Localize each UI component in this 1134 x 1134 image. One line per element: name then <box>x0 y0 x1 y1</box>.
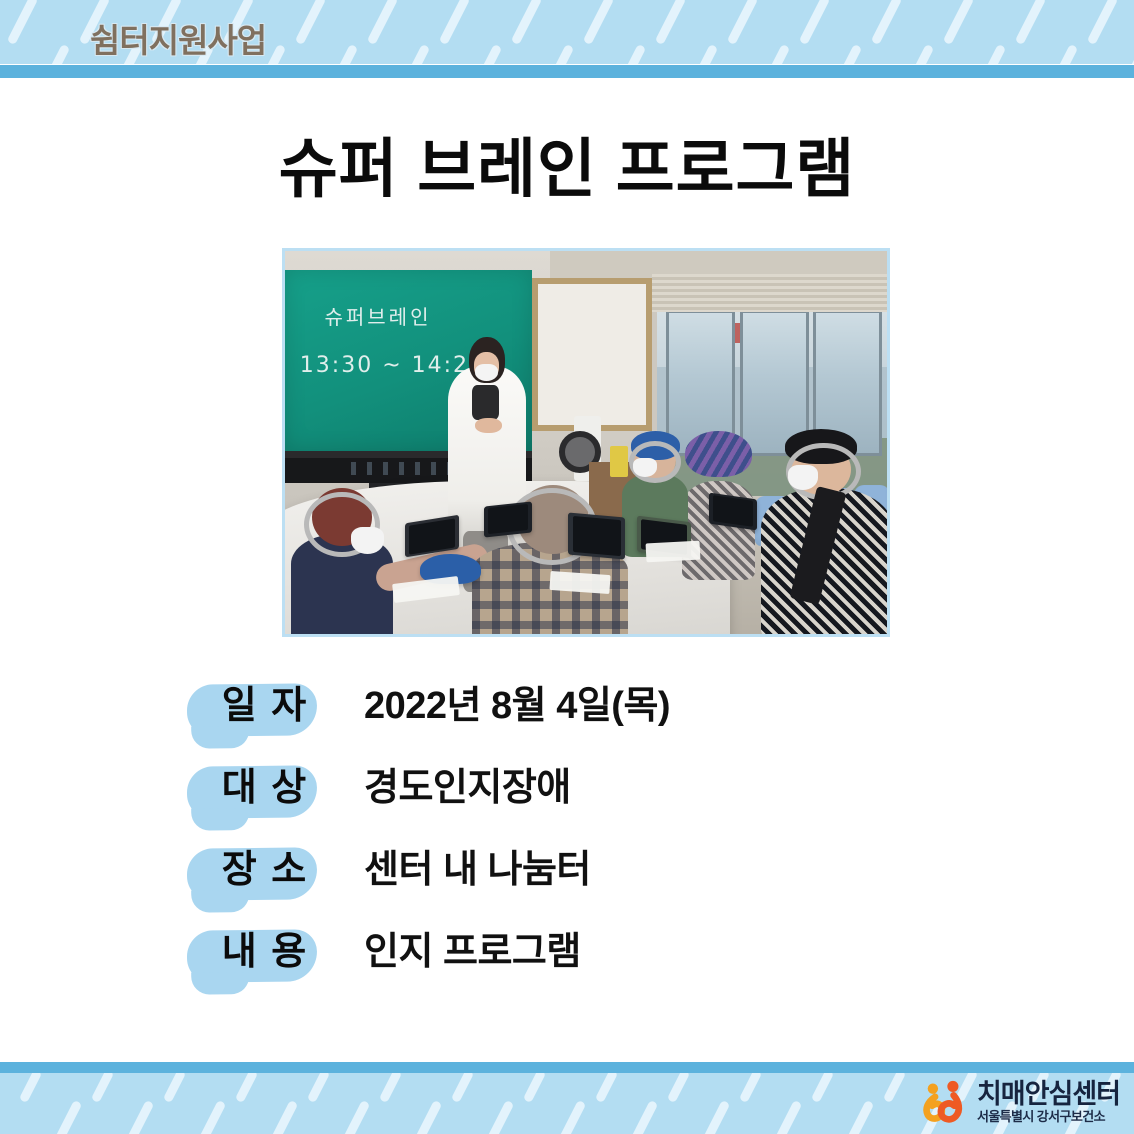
yellow-bottle <box>610 446 628 477</box>
paper-sheet <box>646 541 701 563</box>
info-row-content: 내 용 인지 프로그램 <box>0 906 1134 988</box>
info-label-target: 대 상 <box>190 748 340 818</box>
instructor-inner-top <box>472 385 499 419</box>
slide-canvas: 쉼터지원사업 슈퍼 브레인 프로그램 슈퍼브레인 13:30 ~ 14:20 <box>0 0 1134 1134</box>
info-label-place: 장 소 <box>190 830 340 900</box>
participant-mask <box>633 458 657 477</box>
classroom-photo: 슈퍼브레인 13:30 ~ 14:20 <box>285 251 887 634</box>
participant-bucket-hat <box>685 431 751 477</box>
instructor-mask <box>475 364 498 381</box>
info-row-date: 일 자 2022년 8월 4일(목) <box>0 660 1134 742</box>
tablet-screen <box>573 517 621 557</box>
tablet-device <box>568 513 625 560</box>
instructor-hands <box>475 418 502 433</box>
info-label-text: 대 상 <box>222 756 308 811</box>
info-value-date: 2022년 8월 4일(목) <box>364 674 670 729</box>
info-row-place: 장 소 센터 내 나눔터 <box>0 824 1134 906</box>
tablet-screen <box>410 518 456 554</box>
organization-logo: 치매안심센터 서울특별시 강서구보건소 <box>920 1073 1120 1131</box>
page-title: 슈퍼 브레인 프로그램 <box>0 118 1134 210</box>
participant-mask <box>351 527 384 554</box>
header-accent-bar <box>0 65 1134 78</box>
dementia-center-logo-icon <box>920 1079 968 1125</box>
info-label-text: 내 용 <box>222 920 308 975</box>
info-value-target: 경도인지장애 <box>364 756 571 811</box>
info-label-text: 장 소 <box>222 838 308 893</box>
paper-sheet <box>549 571 610 594</box>
tablet-device <box>484 501 532 537</box>
info-label-content: 내 용 <box>190 912 340 982</box>
footer-accent-bar <box>0 1062 1134 1073</box>
tablet-screen <box>713 496 753 527</box>
info-label-text: 일 자 <box>222 674 308 729</box>
photo-frame: 슈퍼브레인 13:30 ~ 14:20 <box>282 248 890 637</box>
whiteboard <box>532 278 652 431</box>
board-text-line1: 슈퍼브레인 <box>324 301 431 330</box>
info-row-target: 대 상 경도인지장애 <box>0 742 1134 824</box>
program-tag-label: 쉼터지원사업 <box>90 14 266 62</box>
info-value-place: 센터 내 나눔터 <box>364 838 591 893</box>
logo-title: 치매안심센터 <box>977 1080 1120 1108</box>
info-label-date: 일 자 <box>190 666 340 736</box>
info-value-content: 인지 프로그램 <box>364 920 581 975</box>
logo-subtitle: 서울특별시 강서구보건소 <box>977 1110 1120 1124</box>
info-list: 일 자 2022년 8월 4일(목) 대 상 경도인지장애 장 소 센터 내 나… <box>0 660 1134 988</box>
window-blind <box>652 274 887 312</box>
logo-text-block: 치매안심센터 서울특별시 강서구보건소 <box>977 1080 1120 1124</box>
tablet-screen <box>488 504 528 534</box>
